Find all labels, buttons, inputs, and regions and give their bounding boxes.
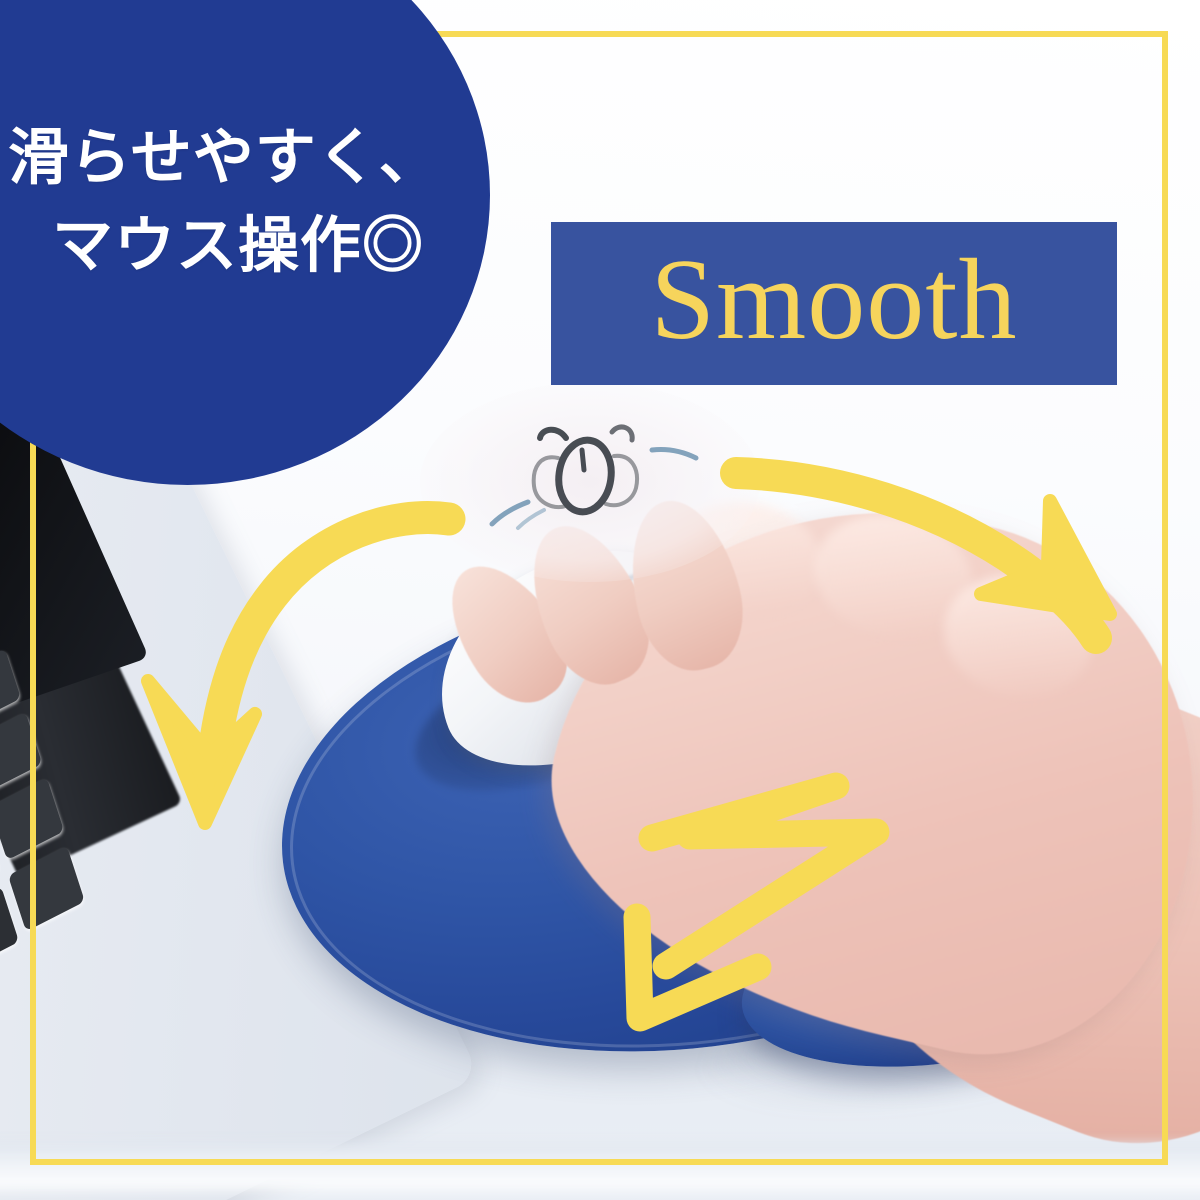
smooth-banner: Smooth (551, 222, 1117, 385)
catchcopy-line-1: 滑らせやすく、 (8, 118, 478, 196)
product-poster: Smooth 滑らせやすく、 マウス操作◎ (0, 0, 1200, 1200)
catchcopy-text: 滑らせやすく、 マウス操作◎ (8, 118, 478, 284)
smooth-banner-label: Smooth (651, 242, 1018, 358)
hand-drawn-mouse-icon (470, 398, 710, 548)
catchcopy-line-2: マウス操作◎ (8, 206, 478, 284)
desk-edge (0, 1144, 1200, 1190)
